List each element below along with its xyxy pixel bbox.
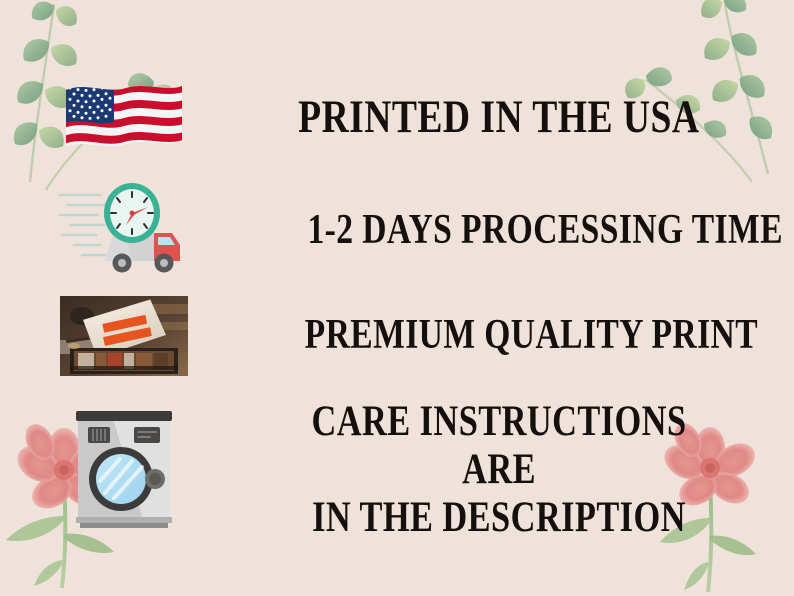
- feature-row-care-instructions: Care Instructions Are In the Description: [0, 390, 794, 550]
- feature-icon-cell: [0, 296, 248, 376]
- headline-processing-time: 1-2 Days Processing Time: [307, 207, 783, 254]
- washing-machine-icon: [72, 405, 176, 535]
- feature-row-processing-time: 1-2 Days Processing Time: [0, 178, 794, 283]
- fast-delivery-clock-truck-icon: [58, 181, 190, 281]
- headline-printed-in-usa: Printed in the USA: [298, 91, 699, 144]
- feature-text-cell: Printed in the USA: [248, 91, 794, 144]
- product-info-poster: Printed in the USA: [0, 0, 794, 596]
- feature-row-printed-in-usa: Printed in the USA: [0, 62, 794, 172]
- feature-icon-cell: [0, 405, 248, 535]
- usa-flag-icon: [64, 78, 184, 156]
- feature-row-premium-quality: Premium Quality Print: [0, 286, 794, 386]
- feature-text-cell: 1-2 Days Processing Time: [248, 207, 794, 254]
- screen-print-photo-icon: [60, 296, 188, 376]
- feature-text-cell: Care Instructions Are In the Description: [248, 398, 794, 542]
- headline-premium-quality: Premium Quality Print: [305, 312, 758, 359]
- feature-icon-cell: [0, 78, 248, 156]
- feature-icon-cell: [0, 181, 248, 281]
- headline-care-line2: In the Description: [312, 494, 686, 541]
- headline-care-line1: Care Instructions Are: [312, 398, 687, 493]
- feature-text-cell: Premium Quality Print: [248, 312, 794, 359]
- headline-care-instructions: Care Instructions Are In the Description: [298, 398, 700, 542]
